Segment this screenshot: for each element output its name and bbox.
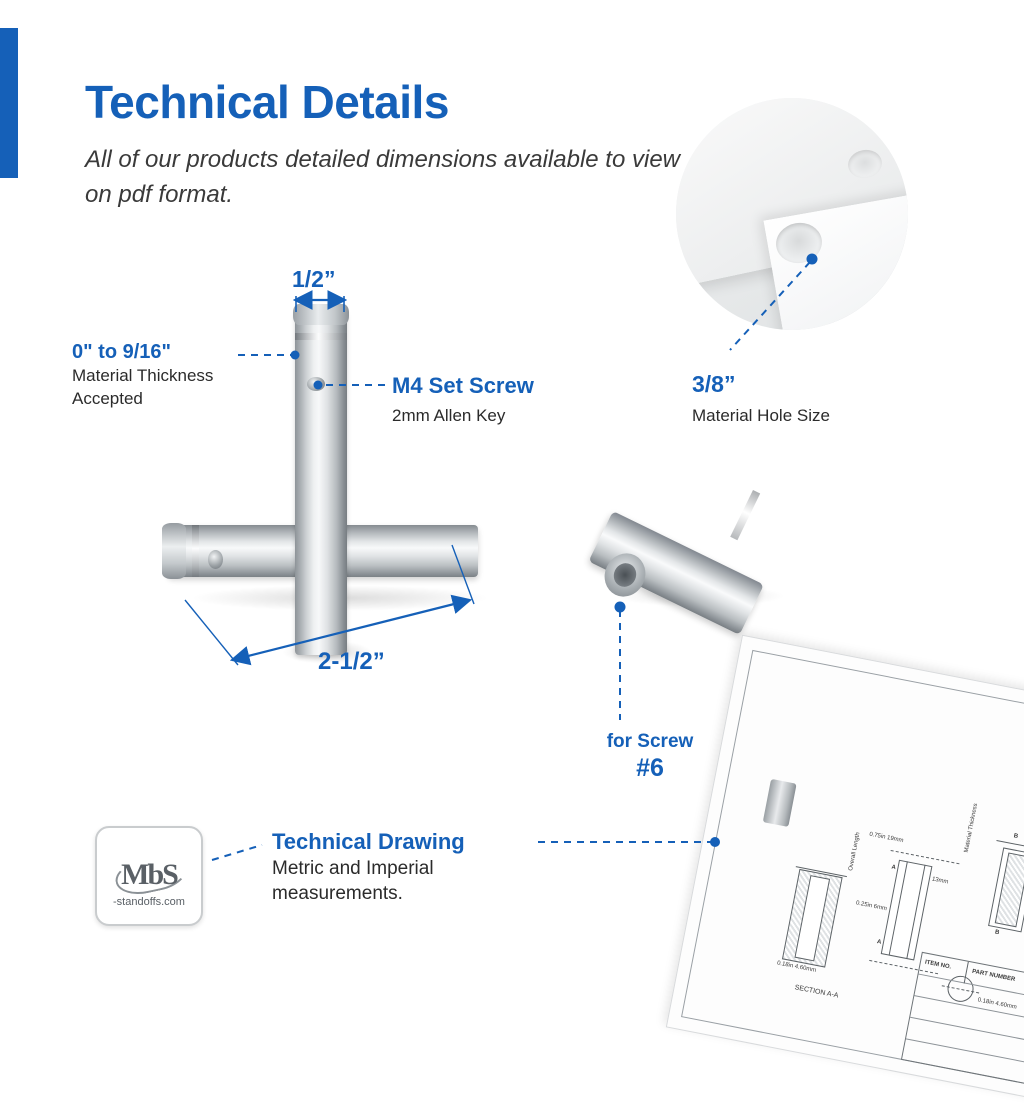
mbs-standoffs-logo[interactable]: MbS -standoffs.com	[95, 826, 203, 926]
label-technical-drawing-line1: Metric and Imperial	[272, 856, 552, 882]
label-technical-drawing-line2: measurements.	[272, 881, 552, 907]
label-hole-size-note: Material Hole Size	[692, 405, 912, 428]
page-title: Technical Details	[85, 75, 449, 129]
standoff-horizontal-cap	[162, 523, 186, 579]
logo-mark: MbS	[121, 858, 177, 892]
label-for-screw: for Screw #6	[560, 730, 740, 783]
set-screw-horizontal-icon	[208, 550, 223, 569]
dimension-diameter: 1/2”	[292, 266, 335, 293]
standoff-vertical-body	[295, 310, 347, 655]
label-technical-drawing: Technical Drawing Metric and Imperial me…	[272, 828, 552, 907]
standoff-angled	[605, 485, 783, 617]
standoff-vertical-cap	[293, 303, 349, 325]
label-hole-size: 3/8” Material Hole Size	[692, 370, 912, 428]
dimension-length: 2-1/2”	[318, 648, 385, 676]
label-material-thickness-line1: Material Thickness	[72, 365, 282, 388]
set-screw-vertical-icon	[307, 377, 325, 391]
label-set-screw: M4 Set Screw 2mm Allen Key	[392, 372, 622, 427]
technical-drawing-sheet: 0.75in 19mm 0.25in 6mm 0.18in 4.60mm 0.1…	[666, 635, 1024, 1109]
material-hole-photo	[676, 98, 908, 330]
label-for-screw-line1: for Screw	[560, 730, 740, 754]
standoff-vertical-ring	[295, 333, 347, 340]
accent-bar	[0, 28, 18, 178]
label-hole-size-title: 3/8”	[692, 370, 912, 399]
label-material-thickness-title: 0" to 9/16"	[72, 340, 282, 365]
page-subtitle: All of our products detailed dimensions …	[85, 143, 705, 213]
standoff-angled-ring	[730, 490, 760, 540]
drawing-title-block: ITEM NO. PART NUMBER	[901, 952, 1024, 1094]
label-for-screw-line2: #6	[560, 754, 740, 783]
label-material-thickness-line2: Accepted	[72, 388, 282, 411]
label-set-screw-note: 2mm Allen Key	[392, 405, 622, 428]
label-set-screw-title: M4 Set Screw	[392, 372, 622, 400]
standoff-horizontal-ring	[192, 525, 199, 577]
product-illustration	[150, 255, 670, 705]
leader-line-logo	[212, 845, 262, 860]
label-technical-drawing-title: Technical Drawing	[272, 828, 552, 856]
label-material-thickness: 0" to 9/16" Material Thickness Accepted	[72, 340, 282, 411]
logo-domain: -standoffs.com	[97, 896, 201, 908]
